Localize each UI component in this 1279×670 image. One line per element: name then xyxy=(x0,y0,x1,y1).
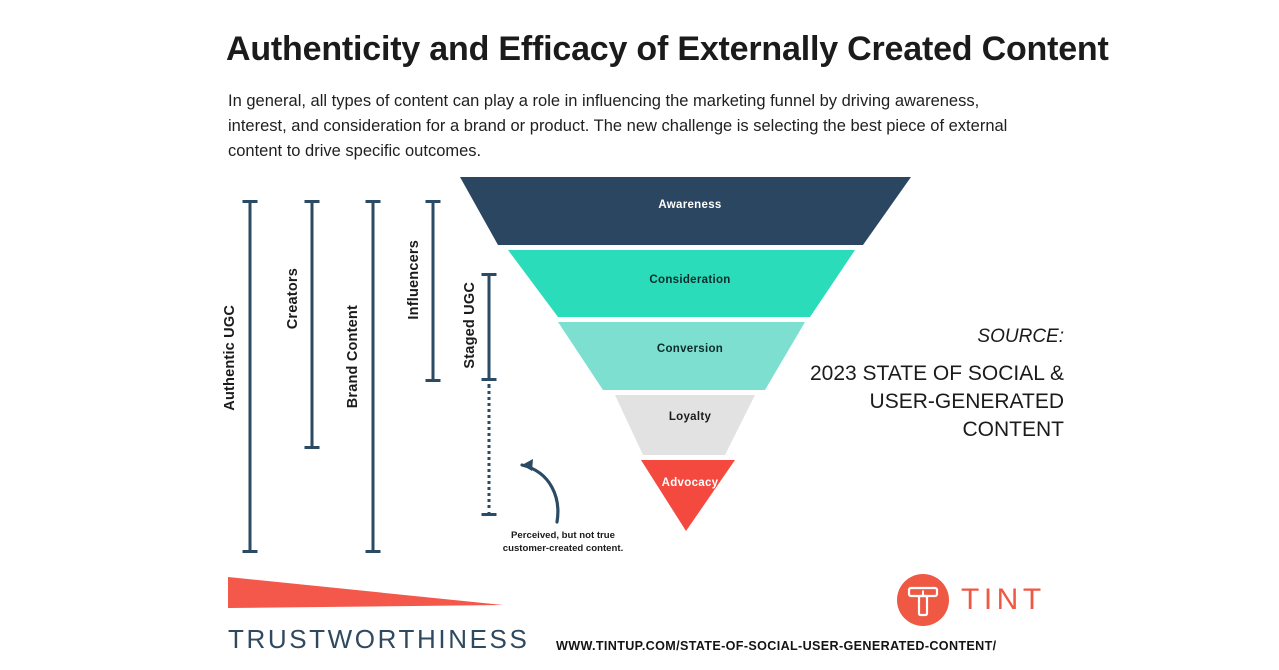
source-body: 2023 STATE OF SOCIAL & USER-GENERATED CO… xyxy=(800,360,1064,444)
page-subtitle: In general, all types of content can pla… xyxy=(228,89,1028,164)
annotation-text: Perceived, but not true customer-created… xyxy=(498,530,628,555)
trustworthiness-wedge-icon xyxy=(228,575,503,610)
bracket-staged-ugc-dotted-extension xyxy=(481,384,496,516)
bracket-stem xyxy=(248,200,251,553)
bracket-label-staged-ugc: Staged UGC xyxy=(462,282,478,369)
bracket-stem xyxy=(310,200,313,449)
tint-logo[interactable]: TINT xyxy=(897,574,1052,628)
bracket-influencers xyxy=(425,200,440,382)
source-url[interactable]: WWW.TINTUP.COM/STATE-OF-SOCIAL-USER-GENE… xyxy=(556,639,997,653)
bracket-stem xyxy=(431,200,434,382)
tint-logo-mark-icon xyxy=(897,574,949,626)
bracket-brand-content xyxy=(365,200,380,553)
trustworthiness-label: TRUSTWORTHINESS xyxy=(228,624,518,655)
bracket-staged-ugc xyxy=(481,273,496,381)
curved-arrow-left-icon xyxy=(505,452,567,524)
bracket-creators xyxy=(304,200,319,449)
bracket-cap-bottom xyxy=(425,379,440,382)
infographic-canvas: Authenticity and Efficacy of Externally … xyxy=(0,0,1279,670)
bracket-cap-bottom xyxy=(304,446,319,449)
bracket-cap-bottom xyxy=(242,550,257,553)
bracket-cap-bottom xyxy=(481,513,496,516)
bracket-stem xyxy=(371,200,374,553)
bracket-label-authentic-ugc: Authentic UGC xyxy=(222,305,238,411)
bracket-cap-bottom xyxy=(365,550,380,553)
bracket-stem-dotted xyxy=(487,384,490,516)
bracket-label-influencers: Influencers xyxy=(406,240,422,320)
bracket-label-brand-content: Brand Content xyxy=(345,305,361,408)
source-label: SOURCE: xyxy=(830,326,1064,348)
bracket-label-creators: Creators xyxy=(285,268,301,329)
bracket-stem xyxy=(487,273,490,381)
page-title: Authenticity and Efficacy of Externally … xyxy=(226,30,1126,69)
bracket-cap-bottom xyxy=(481,378,496,381)
bracket-authentic-ugc xyxy=(242,200,257,553)
tint-logo-wordmark: TINT xyxy=(961,583,1046,617)
